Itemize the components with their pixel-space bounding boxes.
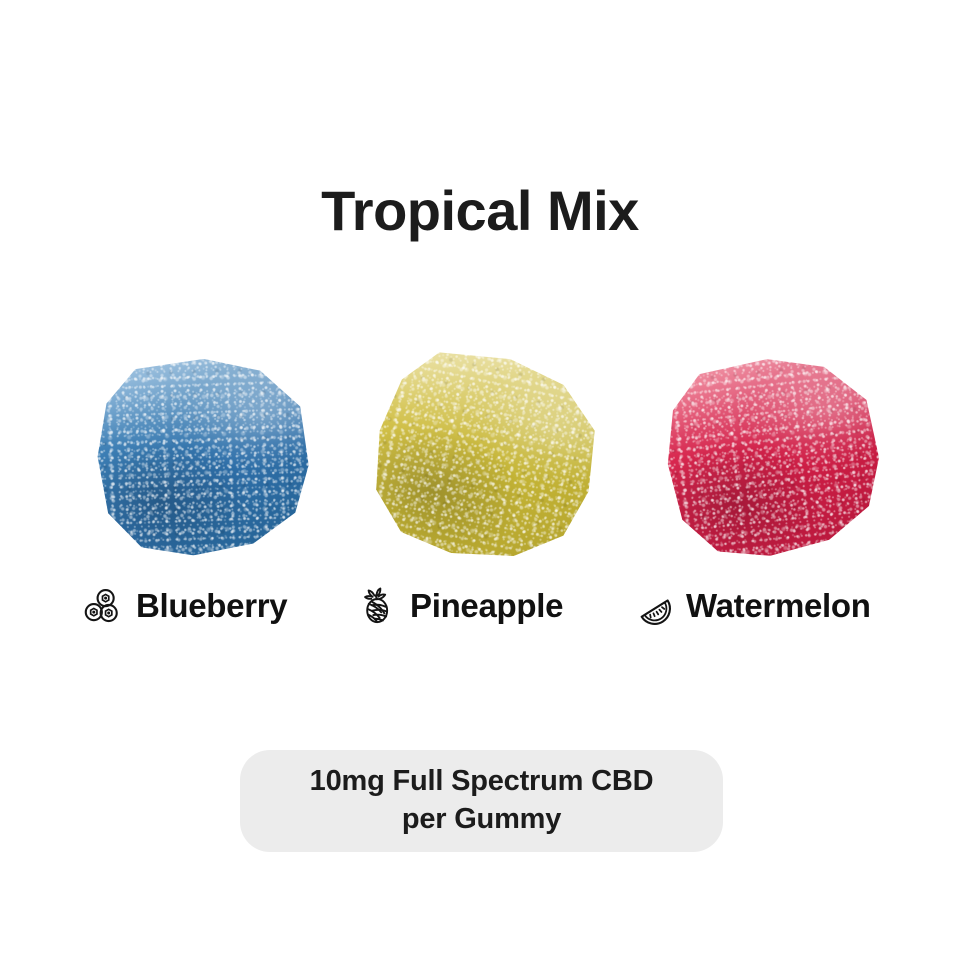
pineapple-icon bbox=[356, 584, 398, 628]
page-title: Tropical Mix bbox=[0, 180, 960, 242]
flavor-label-blueberry: Blueberry bbox=[82, 578, 287, 634]
gummy-sugar-coating-2 bbox=[637, 331, 909, 583]
flavor-label-pineapple: Pineapple bbox=[356, 578, 563, 634]
pineapple-gummy-image bbox=[356, 335, 615, 579]
flavor-name: Watermelon bbox=[686, 587, 871, 625]
gummy-sugar-coating-2 bbox=[74, 339, 331, 575]
flavor-name: Blueberry bbox=[136, 587, 287, 625]
blueberry-gummy-image bbox=[92, 355, 314, 558]
gummy-watermelon bbox=[648, 342, 898, 572]
dosage-line-1: 10mg Full Spectrum CBD bbox=[310, 765, 654, 797]
flavor-label-row: Blueberry bbox=[60, 578, 900, 634]
gummy-pineapple bbox=[360, 342, 610, 572]
dosage-line-2: per Gummy bbox=[310, 801, 654, 839]
flavor-name: Pineapple bbox=[410, 587, 563, 625]
gummy-blueberry bbox=[78, 342, 328, 572]
status-badge: 10mg Full Spectrum CBD per Gummy bbox=[240, 750, 723, 852]
gummy-sugar-coating-2 bbox=[335, 316, 635, 598]
watermelon-gummy-image bbox=[656, 348, 890, 565]
dosage-text: 10mg Full Spectrum CBD per Gummy bbox=[310, 763, 654, 838]
flavor-label-watermelon: Watermelon bbox=[632, 578, 871, 634]
watermelon-icon bbox=[632, 584, 674, 628]
blueberry-icon bbox=[82, 584, 124, 628]
product-card: Tropical Mix bbox=[0, 0, 960, 960]
gummy-image-row bbox=[60, 342, 900, 572]
